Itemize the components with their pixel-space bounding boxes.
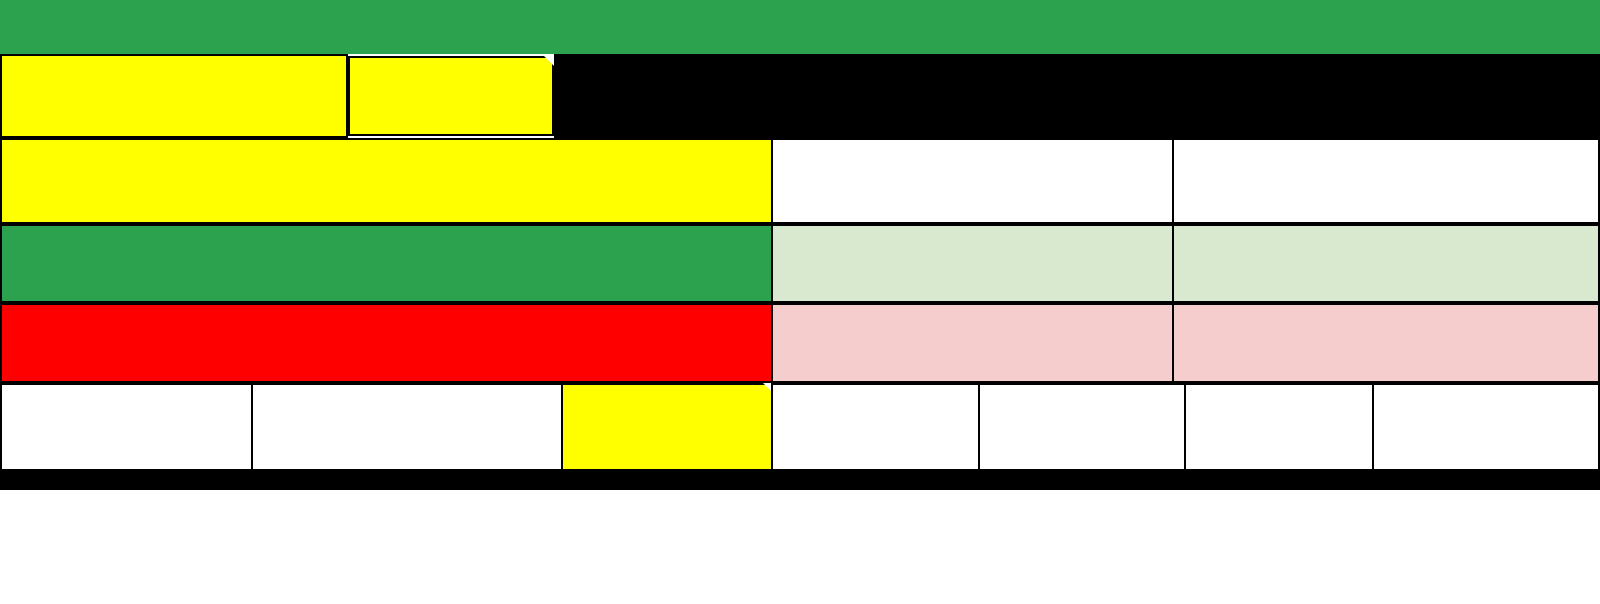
page-title	[0, 0, 1600, 54]
step2-label-cell	[0, 138, 773, 224]
annual-profit-label-cell	[0, 224, 773, 303]
section-header-marketing	[0, 471, 1600, 490]
spreadsheet-canvas	[0, 0, 1600, 604]
col-header-philippines	[771, 383, 980, 471]
country-header-bangledesh	[1172, 138, 1600, 224]
black-filler-step1	[554, 54, 1600, 138]
additional-revenue-bangledesh	[1172, 303, 1600, 383]
col-header-department	[0, 383, 253, 471]
additional-revenue-label-cell	[0, 303, 773, 383]
additional-revenue-philippines	[771, 303, 1174, 383]
annual-profit-philippines	[771, 224, 1174, 303]
col-header-philippines-profit-delta	[978, 383, 1186, 471]
step1-label-cell	[0, 54, 348, 138]
col-header-bangledesh-profit-delta	[1372, 383, 1600, 471]
col-header-role-function	[251, 383, 563, 471]
country-header-philippines	[771, 138, 1174, 224]
col-header-bangledesh	[1184, 383, 1374, 471]
col-header-monthly-pay	[561, 383, 773, 471]
profit-margin-input-cell[interactable]	[348, 56, 554, 136]
annual-profit-bangledesh	[1172, 224, 1600, 303]
